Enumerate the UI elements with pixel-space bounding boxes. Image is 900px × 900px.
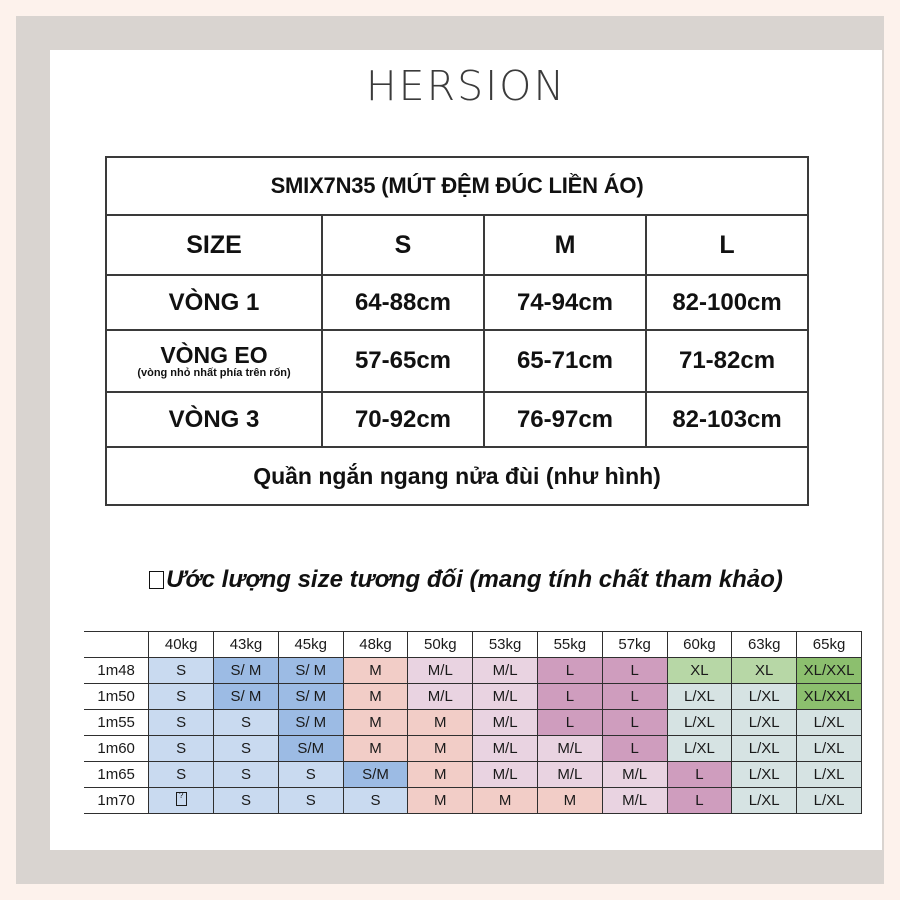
matrix-size-cell: XL/XXL bbox=[797, 684, 862, 710]
matrix-row-header: 1m55 bbox=[84, 710, 149, 736]
matrix-size-cell: L bbox=[537, 684, 602, 710]
size-chart-page: HERSION SMIX7N35 (MÚT ĐỆM ĐÚC LIỀN ÁO) S… bbox=[0, 0, 900, 900]
matrix-size-cell: S/M bbox=[343, 762, 408, 788]
matrix-column-header: 53kg bbox=[473, 632, 538, 658]
matrix-row: 1m65SSSS/MMM/LM/LM/LLL/XLL/XL bbox=[84, 762, 862, 788]
matrix-size-cell: M/L bbox=[537, 762, 602, 788]
matrix-size-cell: S bbox=[214, 762, 279, 788]
photo-frame: HERSION SMIX7N35 (MÚT ĐỆM ĐÚC LIỀN ÁO) S… bbox=[16, 16, 884, 884]
matrix-size-cell: M/L bbox=[473, 658, 538, 684]
table-row-title: SMIX7N35 (MÚT ĐỆM ĐÚC LIỀN ÁO) bbox=[106, 157, 808, 215]
matrix-row: 1m50SS/ MS/ MMM/LM/LLLL/XLL/XLXL/XXL bbox=[84, 684, 862, 710]
matrix-size-cell: L bbox=[602, 684, 667, 710]
row-label-vong-3: VÒNG 3 bbox=[106, 392, 322, 447]
matrix-row: 1m60SSS/MMMM/LM/LLL/XLL/XLL/XL bbox=[84, 736, 862, 762]
matrix-size-cell: M bbox=[343, 658, 408, 684]
matrix-size-cell: S/ M bbox=[278, 710, 343, 736]
matrix-size-cell: M bbox=[343, 684, 408, 710]
cell-vong3-l: 82-103cm bbox=[646, 392, 808, 447]
matrix-size-cell: L bbox=[537, 658, 602, 684]
estimate-caption: Ước lượng size tương đối (mang tính chất… bbox=[50, 566, 882, 594]
cell-vong1-s: 64-88cm bbox=[322, 275, 484, 330]
size-table-footer-note: Quần ngắn ngang nửa đùi (như hình) bbox=[106, 447, 808, 505]
matrix-size-cell: M/L bbox=[473, 684, 538, 710]
matrix-size-cell: L/XL bbox=[797, 788, 862, 814]
matrix-corner-cell bbox=[84, 632, 149, 658]
column-header-s: S bbox=[322, 215, 484, 275]
matrix-row-header: 1m50 bbox=[84, 684, 149, 710]
matrix-size-cell: S bbox=[214, 736, 279, 762]
matrix-size-cell: M bbox=[537, 788, 602, 814]
matrix-column-header: 57kg bbox=[602, 632, 667, 658]
matrix-size-cell: L/XL bbox=[797, 762, 862, 788]
matrix-size-cell: S bbox=[149, 762, 214, 788]
matrix-size-cell: L/XL bbox=[797, 710, 862, 736]
size-measurement-table: SMIX7N35 (MÚT ĐỆM ĐÚC LIỀN ÁO) SIZE S M … bbox=[105, 156, 809, 506]
matrix-size-cell: XL/XXL bbox=[797, 658, 862, 684]
matrix-row-header: 1m60 bbox=[84, 736, 149, 762]
matrix-column-header: 63kg bbox=[732, 632, 797, 658]
matrix-size-cell: L bbox=[667, 788, 732, 814]
matrix-size-cell: M bbox=[473, 788, 538, 814]
matrix-size-cell: M/L bbox=[408, 658, 473, 684]
matrix-size-cell: L/XL bbox=[732, 762, 797, 788]
matrix-size-cell: S/ M bbox=[214, 658, 279, 684]
matrix-size-cell: S/ M bbox=[278, 658, 343, 684]
matrix-size-cell: L/XL bbox=[732, 736, 797, 762]
matrix-column-header: 43kg bbox=[214, 632, 279, 658]
matrix-size-cell: S bbox=[343, 788, 408, 814]
matrix-column-header: 60kg bbox=[667, 632, 732, 658]
column-header-m: M bbox=[484, 215, 646, 275]
content-sheet: HERSION SMIX7N35 (MÚT ĐỆM ĐÚC LIỀN ÁO) S… bbox=[50, 50, 882, 850]
cell-vong3-s: 70-92cm bbox=[322, 392, 484, 447]
matrix-size-cell: M/L bbox=[473, 710, 538, 736]
matrix-size-cell: M/L bbox=[473, 762, 538, 788]
cell-vongeo-s: 57-65cm bbox=[322, 330, 484, 392]
matrix-size-cell: M/L bbox=[473, 736, 538, 762]
matrix-size-cell: L bbox=[602, 658, 667, 684]
size-table-title: SMIX7N35 (MÚT ĐỆM ĐÚC LIỀN ÁO) bbox=[106, 157, 808, 215]
matrix-size-cell: S bbox=[149, 710, 214, 736]
table-row-footer: Quần ngắn ngang nửa đùi (như hình) bbox=[106, 447, 808, 505]
matrix-size-cell: M/L bbox=[602, 762, 667, 788]
matrix-size-cell: S bbox=[278, 762, 343, 788]
matrix-size-cell: L bbox=[602, 710, 667, 736]
brand-logo: HERSION bbox=[50, 66, 882, 107]
matrix-column-header: 65kg bbox=[797, 632, 862, 658]
column-header-l: L bbox=[646, 215, 808, 275]
matrix-column-header: 45kg bbox=[278, 632, 343, 658]
matrix-size-cell: S bbox=[149, 658, 214, 684]
cell-vong1-l: 82-100cm bbox=[646, 275, 808, 330]
matrix-row-header: 1m70 bbox=[84, 788, 149, 814]
matrix-size-cell: L/XL bbox=[732, 710, 797, 736]
row-label-vong-eo: VÒNG EO (vòng nhỏ nhất phía trên rốn) bbox=[106, 330, 322, 392]
matrix-row-header: 1m48 bbox=[84, 658, 149, 684]
row-label-vong-1: VÒNG 1 bbox=[106, 275, 322, 330]
missing-glyph-box-icon bbox=[176, 792, 187, 806]
matrix-size-cell: M/L bbox=[602, 788, 667, 814]
cell-vong1-m: 74-94cm bbox=[484, 275, 646, 330]
table-row: VÒNG 1 64-88cm 74-94cm 82-100cm bbox=[106, 275, 808, 330]
height-weight-size-matrix: 40kg43kg45kg48kg50kg53kg55kg57kg60kg63kg… bbox=[84, 631, 862, 814]
matrix-size-cell: S/ M bbox=[214, 684, 279, 710]
cell-vongeo-l: 71-82cm bbox=[646, 330, 808, 392]
matrix-size-cell: M bbox=[343, 710, 408, 736]
matrix-size-cell: L/XL bbox=[797, 736, 862, 762]
row-label-vong-eo-note: (vòng nhỏ nhất phía trên rốn) bbox=[107, 368, 321, 380]
matrix-size-cell: M bbox=[408, 710, 473, 736]
matrix-size-cell bbox=[149, 788, 214, 814]
matrix-size-cell: S bbox=[278, 788, 343, 814]
matrix-column-header: 48kg bbox=[343, 632, 408, 658]
matrix-size-cell: L/XL bbox=[732, 788, 797, 814]
matrix-size-cell: L/XL bbox=[667, 710, 732, 736]
matrix-size-cell: S bbox=[149, 684, 214, 710]
matrix-size-cell: L bbox=[667, 762, 732, 788]
matrix-header-row: 40kg43kg45kg48kg50kg53kg55kg57kg60kg63kg… bbox=[84, 632, 862, 658]
matrix-size-cell: L/XL bbox=[667, 736, 732, 762]
matrix-size-cell: M bbox=[408, 736, 473, 762]
matrix-size-cell: M bbox=[408, 788, 473, 814]
matrix-size-cell: L/XL bbox=[732, 684, 797, 710]
row-label-vong-eo-main: VÒNG EO bbox=[107, 343, 321, 367]
matrix-column-header: 50kg bbox=[408, 632, 473, 658]
matrix-size-cell: S bbox=[214, 710, 279, 736]
matrix-row: 1m48SS/ MS/ MMM/LM/LLLXLXLXL/XXL bbox=[84, 658, 862, 684]
missing-glyph-box-icon bbox=[149, 571, 164, 589]
matrix-size-cell: M bbox=[408, 762, 473, 788]
matrix-size-cell: L/XL bbox=[667, 684, 732, 710]
matrix-size-cell: S bbox=[149, 736, 214, 762]
matrix-column-header: 55kg bbox=[537, 632, 602, 658]
matrix-size-cell: XL bbox=[667, 658, 732, 684]
cell-vong3-m: 76-97cm bbox=[484, 392, 646, 447]
matrix-size-cell: S/ M bbox=[278, 684, 343, 710]
estimate-caption-text: Ước lượng size tương đối (mang tính chất… bbox=[166, 566, 783, 593]
matrix-column-header: 40kg bbox=[149, 632, 214, 658]
matrix-row: 1m70SSSMMMM/LLL/XLL/XL bbox=[84, 788, 862, 814]
matrix-size-cell: XL bbox=[732, 658, 797, 684]
matrix-size-cell: M/L bbox=[408, 684, 473, 710]
matrix-size-cell: S bbox=[214, 788, 279, 814]
matrix-size-cell: M bbox=[343, 736, 408, 762]
table-row: VÒNG EO (vòng nhỏ nhất phía trên rốn) 57… bbox=[106, 330, 808, 392]
matrix-row: 1m55SSS/ MMMM/LLLL/XLL/XLL/XL bbox=[84, 710, 862, 736]
matrix-size-cell: S/M bbox=[278, 736, 343, 762]
matrix-size-cell: L bbox=[602, 736, 667, 762]
matrix-size-cell: M/L bbox=[537, 736, 602, 762]
column-header-size: SIZE bbox=[106, 215, 322, 275]
matrix-row-header: 1m65 bbox=[84, 762, 149, 788]
matrix-size-cell: L bbox=[537, 710, 602, 736]
table-row: VÒNG 3 70-92cm 76-97cm 82-103cm bbox=[106, 392, 808, 447]
table-row-header: SIZE S M L bbox=[106, 215, 808, 275]
cell-vongeo-m: 65-71cm bbox=[484, 330, 646, 392]
